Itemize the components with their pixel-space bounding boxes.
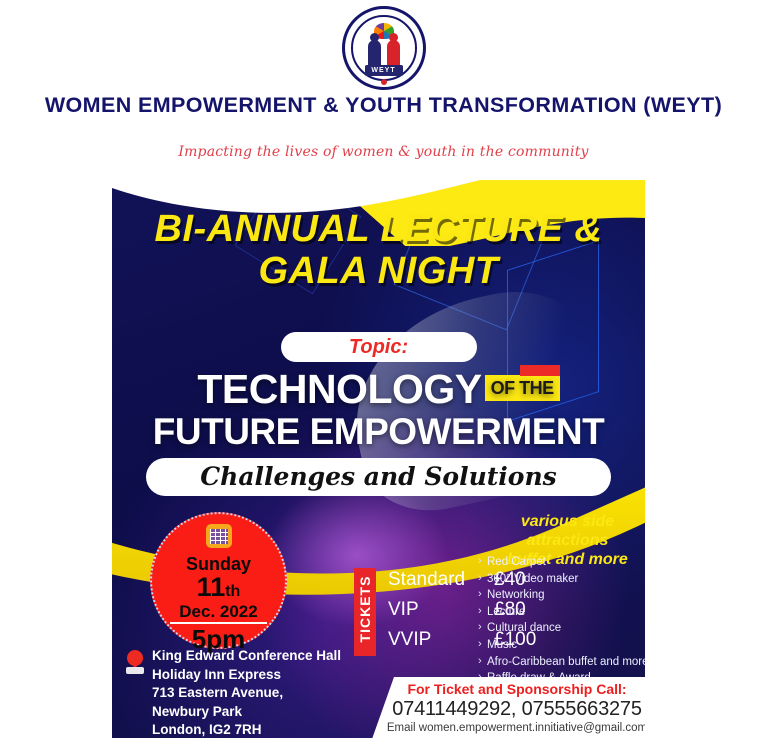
poster-body: BI-ANNUAL LECTURE & GALA NIGHT Topic: TE… — [112, 150, 645, 738]
topic-badge-text: OF THE — [491, 378, 554, 398]
attractions-items: Red Carpet 360° Video maker Networking L… — [478, 554, 645, 687]
list-item: Afro-Caribbean buffet and more — [478, 654, 645, 671]
contact-email[interactable]: Email women.empowerment.innitiative@gmai… — [372, 722, 645, 734]
event-subtitle: Challenges and Solutions — [146, 458, 611, 496]
list-item: Networking — [478, 587, 645, 604]
ticket-name: VIP — [388, 595, 419, 625]
topic-line-1: TECHNOLOGYOF THE — [112, 368, 645, 410]
contact-phones[interactable]: 07411449292, 07555663275 — [372, 698, 645, 721]
organisation-tagline: Impacting the lives of women & youth in … — [0, 144, 767, 160]
logo-acronym-band: WEYT — [365, 65, 403, 76]
list-item: 360° Video maker — [478, 571, 645, 588]
attractions-list: Red Carpet 360° Video maker Networking L… — [478, 554, 645, 687]
list-item: Cultural dance — [478, 620, 645, 637]
event-poster: WEYT WOMEN EMPOWERMENT & YOUTH TRANSFORM… — [0, 0, 767, 756]
contact-panel: For Ticket and Sponsorship Call: 0741144… — [372, 677, 645, 738]
map-pin-icon — [126, 650, 144, 674]
list-item: Red Carpet — [478, 554, 645, 571]
weyt-logo: WEYT — [342, 6, 426, 90]
logo-bottom-dot — [381, 79, 387, 85]
attractions-heading-line-1: various side attractions — [480, 512, 645, 550]
topic-line-2: FUTURE EMPOWERMENT — [112, 412, 645, 452]
calendar-icon — [206, 524, 232, 548]
venue-line: Holiday Inn Express — [152, 666, 432, 685]
tickets-tab: TICKETS — [354, 568, 376, 656]
event-day: 11th — [152, 572, 285, 603]
topic-line-1-text: TECHNOLOGY — [197, 366, 481, 412]
tickets-tab-label: TICKETS — [357, 565, 373, 653]
topic-badge-tab — [520, 365, 560, 376]
topic-badge: OF THE — [485, 375, 560, 401]
date-badge: Sunday 11th Dec. 2022 5pm — [150, 512, 287, 649]
event-month-year: Dec. 2022 — [152, 602, 285, 622]
map-pin-base — [126, 667, 144, 674]
organisation-name: WOMEN EMPOWERMENT & YOUTH TRANSFORMATION… — [0, 93, 767, 118]
topic-label: Topic: — [281, 332, 477, 362]
list-item: Music — [478, 637, 645, 654]
calendar-icon-grid — [210, 529, 228, 544]
contact-title: For Ticket and Sponsorship Call: — [372, 681, 645, 697]
ticket-name: Standard — [388, 565, 465, 595]
event-day-number: 11 — [197, 572, 226, 602]
event-title: BI-ANNUAL LECTURE & GALA NIGHT — [112, 208, 645, 292]
poster-header: WEYT WOMEN EMPOWERMENT & YOUTH TRANSFORM… — [0, 0, 767, 180]
venue-line: King Edward Conference Hall — [152, 647, 432, 666]
list-item: Lecture — [478, 604, 645, 621]
event-day-suffix: th — [225, 583, 240, 600]
